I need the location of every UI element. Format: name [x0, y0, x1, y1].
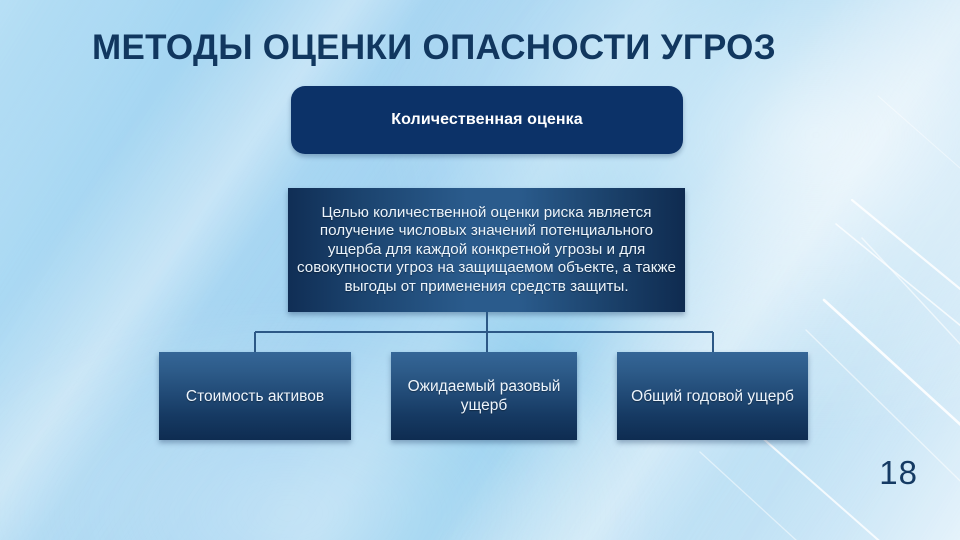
presentation-slide: МЕТОДЫ ОЦЕНКИ ОПАСНОСТИ УГРОЗ Количестве…	[0, 0, 960, 540]
diagram-node-label: Общий годовой ущерб	[621, 387, 804, 406]
diagram-header-node-label: Количественная оценка	[391, 111, 583, 129]
diagram-node-asset-value[interactable]: Стоимость активов	[159, 352, 351, 440]
diagram-node-single-loss-expectancy[interactable]: Ожидаемый разовый ущерб	[391, 352, 577, 440]
diagram-node-label: Стоимость активов	[176, 387, 334, 406]
diagram-description-text: Целью количественной оценки риска являет…	[288, 204, 685, 296]
diagram-description-node[interactable]: Целью количественной оценки риска являет…	[288, 188, 685, 312]
diagram-header-node[interactable]: Количественная оценка	[291, 86, 683, 154]
slide-page-number: 18	[879, 454, 918, 492]
diagram-node-label: Ожидаемый разовый ущерб	[391, 377, 577, 415]
page-title: МЕТОДЫ ОЦЕНКИ ОПАСНОСТИ УГРОЗ	[92, 28, 852, 68]
diagram-node-annual-loss-expectancy[interactable]: Общий годовой ущерб	[617, 352, 808, 440]
